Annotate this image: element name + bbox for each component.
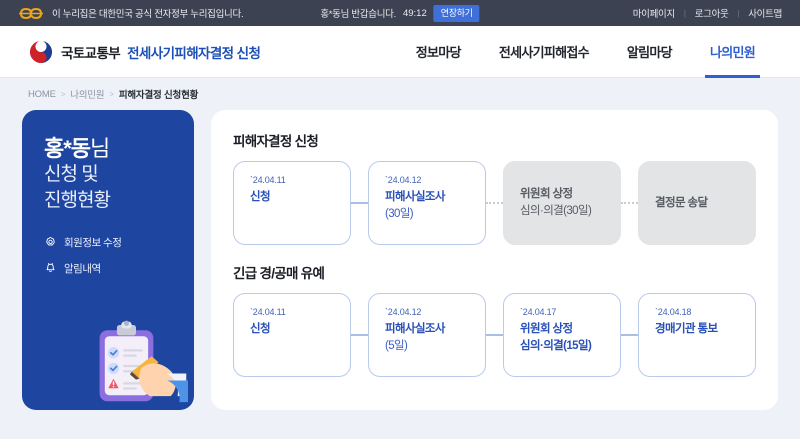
connector-1-3 [621, 202, 638, 204]
connector-2-2 [486, 334, 503, 336]
step-2-3-label-text: 위원회 상정 [520, 323, 573, 335]
taeguk-logo-icon [28, 39, 54, 65]
global-navigation: 정보마당 전세사기피해접수 알림마당 나의민원 [397, 26, 774, 78]
step-1-3-label-text: 위원회 상정 [520, 188, 573, 200]
session-timer: 49:12 [403, 8, 427, 19]
progress-content-card: 피해자결정 신청 `24.04.11 신청 `24.04.12 피해사실조사 (… [211, 110, 778, 410]
sidebar-subtitle-line1: 신청 및 [44, 163, 194, 188]
step-1-2-label-text: 피해사실조사 [385, 191, 445, 203]
section-urgent-auction-deferral: 긴급 경/공매 유예 `24.04.11 신청 `24.04.12 피해사실조사… [233, 262, 756, 377]
breadcrumb-current: 피해자결정 신청현황 [119, 87, 198, 101]
step-1-3-label: 위원회 상정 심의·의결(30일) [520, 186, 620, 219]
egov-notice-text: 이 누리집은 대한민국 공식 전자정부 누리집입니다. [52, 6, 243, 20]
extend-session-button[interactable]: 연장하기 [434, 5, 480, 22]
brand-area[interactable]: 국토교통부 전세사기피해자결정 신청 [28, 39, 260, 65]
sidebar-user-name: 홍*동님 [44, 136, 194, 162]
gear-icon [44, 236, 57, 249]
connector-1-2 [486, 202, 503, 204]
sidebar-item-notifications[interactable]: 알림내역 [44, 261, 194, 276]
link-separator-2: | [737, 9, 739, 18]
step-1-1-date: `24.04.11 [250, 175, 350, 185]
nav-item-report[interactable]: 전세사기피해접수 [480, 26, 608, 78]
step-2-2-date: `24.04.12 [385, 307, 485, 317]
nav-item-mycivil[interactable]: 나의민원 [691, 26, 774, 78]
site-header: 국토교통부 전세사기피해자결정 신청 정보마당 전세사기피해접수 알림마당 나의… [0, 26, 800, 78]
link-separator-1: | [684, 9, 686, 18]
step-2-4-label: 경매기관 통보 [655, 321, 755, 338]
sidebar-subtitle-line2: 진행현황 [44, 189, 194, 214]
service-name: 전세사기피해자결정 신청 [127, 42, 260, 62]
step-2-1[interactable]: `24.04.11 신청 [233, 293, 351, 377]
sidebar-user-name-text: 홍*동 [44, 136, 90, 161]
nav-item-notice[interactable]: 알림마당 [608, 26, 691, 78]
step-2-2-label: 피해사실조사 (5일) [385, 321, 485, 354]
sidebar-user-suffix: 님 [90, 136, 109, 161]
breadcrumb-home[interactable]: HOME [28, 89, 56, 100]
clipboard-hand-illustration [84, 316, 188, 410]
main-area: 홍*동님 신청 및 진행현황 회원정보 수정 알림내역 [0, 110, 800, 410]
step-1-4[interactable]: 결정문 송달 [638, 161, 756, 245]
top-utility-bar: 이 누리집은 대한민국 공식 전자정부 누리집입니다. 홍*동님 반갑습니다. … [0, 0, 800, 26]
connector-2-1 [351, 334, 368, 336]
section-1-title: 피해자결정 신청 [233, 130, 756, 150]
step-1-4-label: 결정문 송달 [655, 195, 755, 212]
section-2-title: 긴급 경/공매 유예 [233, 262, 756, 282]
step-1-3[interactable]: 위원회 상정 심의·의결(30일) [503, 161, 621, 245]
link-logout[interactable]: 로그아웃 [695, 6, 729, 20]
user-sidebar-card: 홍*동님 신청 및 진행현황 회원정보 수정 알림내역 [22, 110, 194, 410]
connector-2-3 [621, 334, 638, 336]
session-area: 홍*동님 반갑습니다. 49:12 연장하기 [320, 5, 479, 22]
sidebar-item-notifications-label: 알림내역 [64, 261, 101, 276]
section-1-steps: `24.04.11 신청 `24.04.12 피해사실조사 (30일) 위원회 … [233, 161, 756, 245]
nav-item-info[interactable]: 정보마당 [397, 26, 480, 78]
step-1-2-date: `24.04.12 [385, 175, 485, 185]
step-1-1-label: 신청 [250, 189, 350, 206]
step-2-3[interactable]: `24.04.17 위원회 상정 심의·의결(15일) [503, 293, 621, 377]
step-2-2[interactable]: `24.04.12 피해사실조사 (5일) [368, 293, 486, 377]
step-2-3-label: 위원회 상정 심의·의결(15일) [520, 321, 620, 354]
step-1-3-sub: 심의·의결(30일) [520, 205, 591, 217]
connector-1-1 [351, 202, 368, 204]
step-1-2-sub: (30일) [385, 208, 413, 220]
section-victim-decision: 피해자결정 신청 `24.04.11 신청 `24.04.12 피해사실조사 (… [233, 130, 756, 245]
top-links: 마이페이지 | 로그아웃 | 사이트맵 [633, 6, 782, 20]
step-2-3-sub: 심의·의결(15일) [520, 340, 591, 352]
step-2-3-date: `24.04.17 [520, 307, 620, 317]
step-2-1-label: 신청 [250, 321, 350, 338]
link-sitemap[interactable]: 사이트맵 [748, 6, 782, 20]
step-2-1-date: `24.04.11 [250, 307, 350, 317]
sidebar-item-edit-profile-label: 회원정보 수정 [64, 235, 121, 250]
step-1-2-label: 피해사실조사 (30일) [385, 189, 485, 222]
step-1-2[interactable]: `24.04.12 피해사실조사 (30일) [368, 161, 486, 245]
breadcrumb-level1[interactable]: 나의민원 [70, 87, 104, 101]
bell-icon [44, 262, 57, 275]
step-2-4-date: `24.04.18 [655, 307, 755, 317]
section-2-steps: `24.04.11 신청 `24.04.12 피해사실조사 (5일) `24.0… [233, 293, 756, 377]
step-1-1[interactable]: `24.04.11 신청 [233, 161, 351, 245]
step-2-4[interactable]: `24.04.18 경매기관 통보 [638, 293, 756, 377]
sidebar-item-edit-profile[interactable]: 회원정보 수정 [44, 235, 194, 250]
breadcrumb-sep-1: > [61, 90, 65, 99]
breadcrumb: HOME > 나의민원 > 피해자결정 신청현황 [28, 78, 800, 110]
breadcrumb-sep-2: > [109, 90, 113, 99]
ministry-name: 국토교통부 [61, 42, 120, 62]
greeting-text: 홍*동님 반갑습니다. [320, 6, 396, 20]
egov-logo-icon [18, 7, 44, 20]
link-mypage[interactable]: 마이페이지 [633, 6, 675, 20]
sidebar-links: 회원정보 수정 알림내역 [44, 235, 194, 276]
step-2-2-sub: (5일) [385, 340, 407, 352]
step-2-2-label-text: 피해사실조사 [385, 323, 445, 335]
